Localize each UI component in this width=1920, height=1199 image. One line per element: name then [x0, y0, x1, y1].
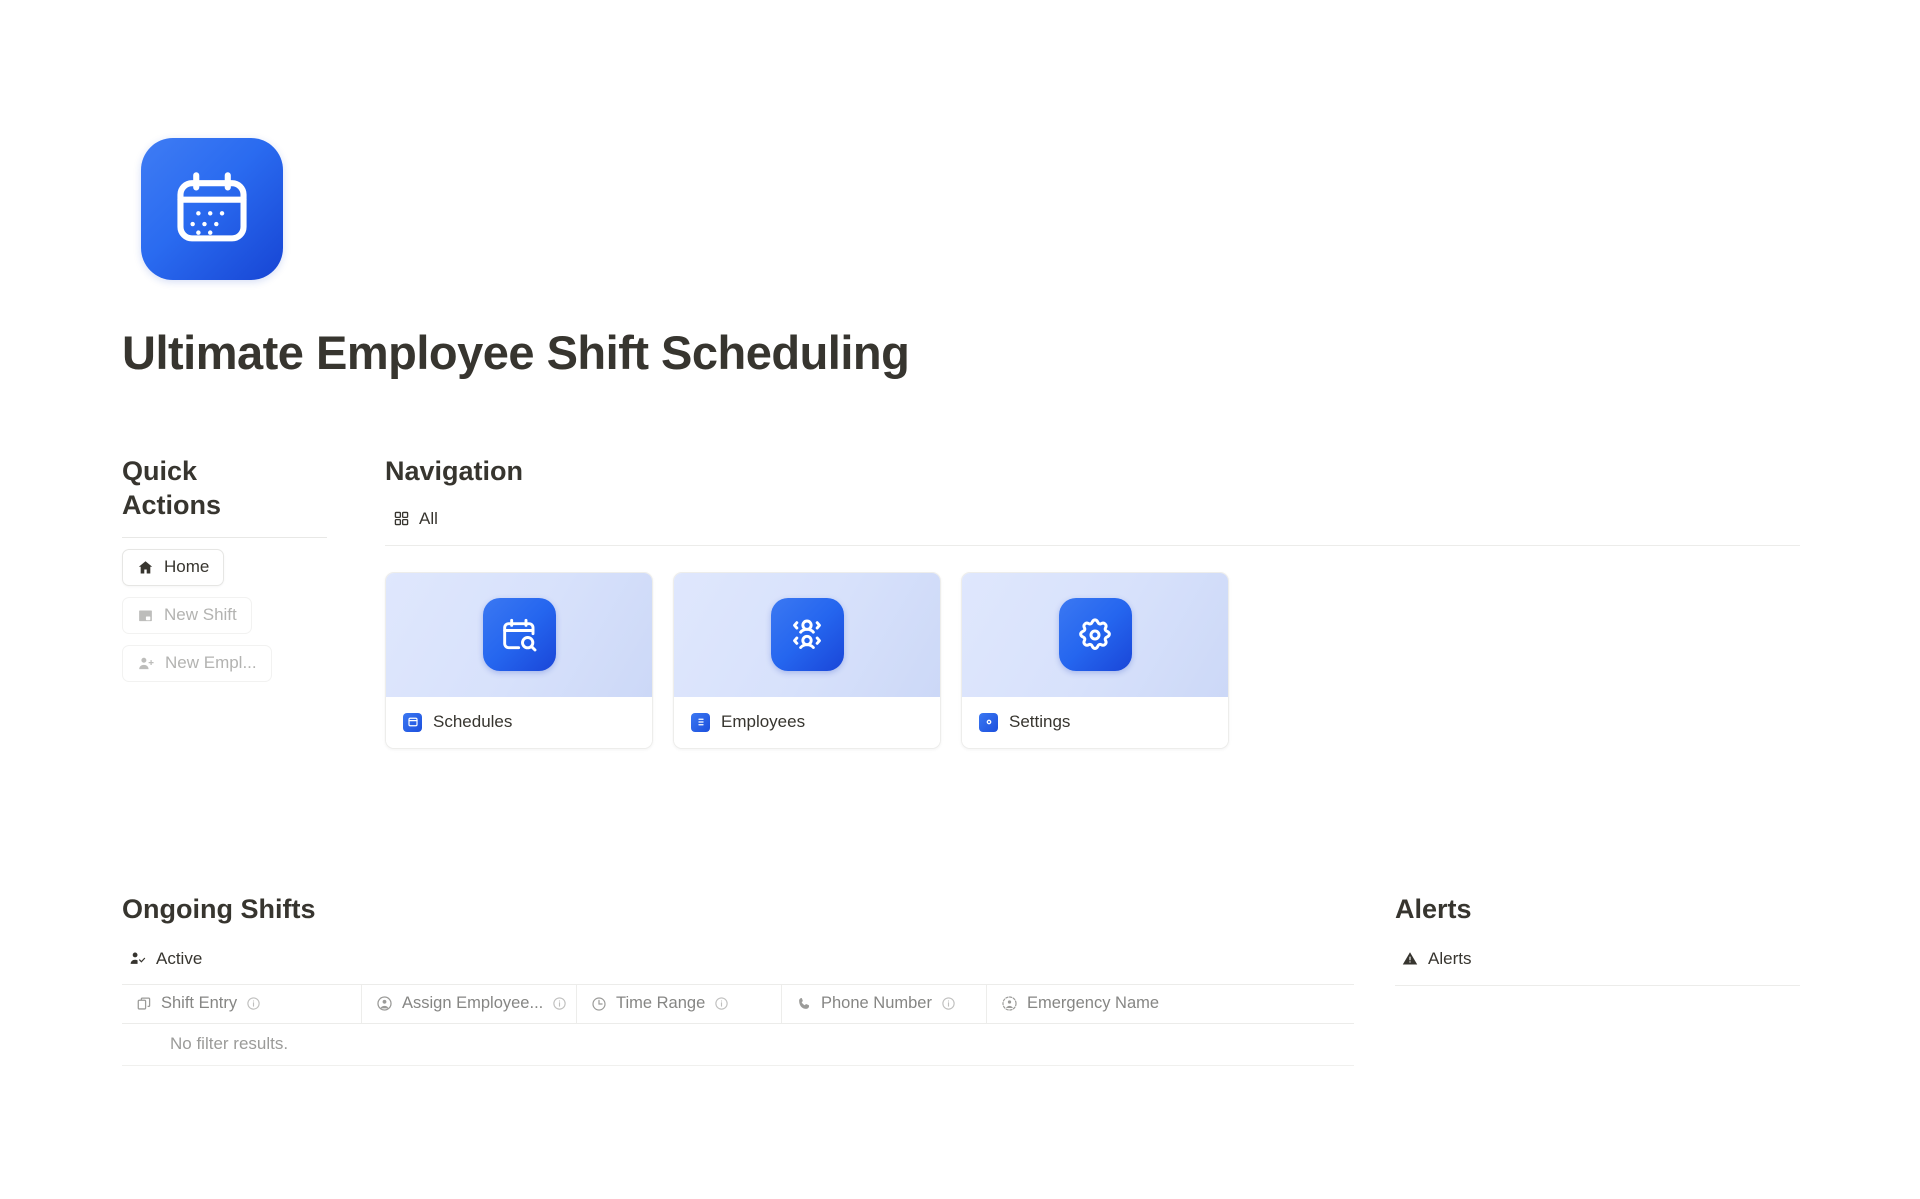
quick-action-new-shift-button[interactable]: New Shift: [122, 597, 252, 634]
table-column-phone-number[interactable]: Phone Number: [782, 985, 987, 1023]
schedules-mini-icon: [403, 713, 422, 732]
employees-mini-icon: [691, 713, 710, 732]
ongoing-shifts-heading: Ongoing Shifts: [122, 893, 1354, 927]
alerts-divider: [1395, 985, 1800, 986]
info-icon[interactable]: [246, 996, 261, 1011]
navigation-cards: Schedules: [385, 572, 1800, 749]
pages-icon: [136, 996, 152, 1012]
nav-card-banner: [386, 573, 652, 697]
ongoing-shifts-tab-label: Active: [156, 949, 202, 969]
clock-icon: [591, 996, 607, 1012]
table-column-label: Phone Number: [821, 994, 932, 1013]
alerts-tab-label: Alerts: [1428, 949, 1471, 969]
nav-card-label: Settings: [1009, 712, 1070, 732]
quick-action-home-button[interactable]: Home: [122, 549, 224, 586]
table-column-label: Emergency Name: [1027, 994, 1159, 1013]
quick-action-label: New Shift: [164, 605, 237, 625]
nav-card-settings[interactable]: Settings: [961, 572, 1229, 749]
nav-card-label: Schedules: [433, 712, 512, 732]
table-header-row: Shift Entry: [122, 984, 1354, 1024]
calendar-plus-icon: [137, 607, 154, 624]
page-title: Ultimate Employee Shift Scheduling: [122, 325, 909, 380]
gear-icon: [1059, 598, 1132, 671]
nav-card-employees[interactable]: Employees: [673, 572, 941, 749]
table-empty-message: No filter results.: [122, 1024, 1354, 1066]
ongoing-shifts-panel: Ongoing Shifts Active: [122, 893, 1354, 1066]
navigation-panel: Navigation All: [385, 455, 1800, 749]
nav-card-footer: Schedules: [386, 697, 652, 748]
grid-icon: [393, 510, 410, 527]
navigation-tab-label: All: [419, 509, 438, 529]
nav-card-banner: [962, 573, 1228, 697]
warning-triangle-icon: [1401, 950, 1419, 967]
nav-card-label: Employees: [721, 712, 805, 732]
quick-action-new-employee-button[interactable]: New Empl...: [122, 645, 272, 682]
table-column-time-range[interactable]: Time Range: [577, 985, 782, 1023]
info-icon[interactable]: [941, 996, 956, 1011]
calendar-app-icon: [141, 138, 283, 280]
alerts-tab[interactable]: Alerts: [1395, 949, 1800, 969]
alerts-heading: Alerts: [1395, 893, 1800, 927]
table-column-label: Shift Entry: [161, 994, 237, 1013]
ongoing-shifts-table: Shift Entry: [122, 984, 1354, 1066]
info-icon[interactable]: [714, 996, 729, 1011]
nav-card-footer: Employees: [674, 697, 940, 748]
users-group-icon: [771, 598, 844, 671]
nav-card-banner: [674, 573, 940, 697]
table-column-shift-entry[interactable]: Shift Entry: [122, 985, 362, 1023]
user-plus-icon: [137, 655, 155, 672]
emergency-icon: [1001, 995, 1018, 1012]
home-icon: [137, 559, 154, 576]
navigation-tab-all[interactable]: All: [385, 509, 1800, 529]
app-root: Ultimate Employee Shift Scheduling Quick…: [0, 0, 1920, 1199]
table-column-emergency-name[interactable]: Emergency Name: [987, 985, 1354, 1023]
table-column-assign-employee[interactable]: Assign Employee...: [362, 985, 577, 1023]
table-column-label: Assign Employee...: [402, 994, 543, 1013]
quick-actions-heading: Quick Actions: [122, 455, 272, 523]
settings-mini-icon: [979, 713, 998, 732]
phone-icon: [796, 996, 812, 1012]
ongoing-shifts-tab-active[interactable]: Active: [122, 949, 1354, 969]
table-column-label: Time Range: [616, 994, 705, 1013]
info-icon[interactable]: [552, 996, 567, 1011]
calendar-search-icon: [483, 598, 556, 671]
quick-actions-panel: Quick Actions Home New Shift: [122, 455, 327, 682]
quick-action-label: Home: [164, 557, 209, 577]
alerts-panel: Alerts Alerts: [1395, 893, 1800, 986]
navigation-heading: Navigation: [385, 455, 1800, 489]
nav-card-footer: Settings: [962, 697, 1228, 748]
user-check-icon: [128, 950, 147, 967]
nav-card-schedules[interactable]: Schedules: [385, 572, 653, 749]
person-icon: [376, 995, 393, 1012]
quick-action-label: New Empl...: [165, 653, 257, 673]
navigation-divider: [385, 545, 1800, 546]
quick-actions-divider: [122, 537, 327, 538]
